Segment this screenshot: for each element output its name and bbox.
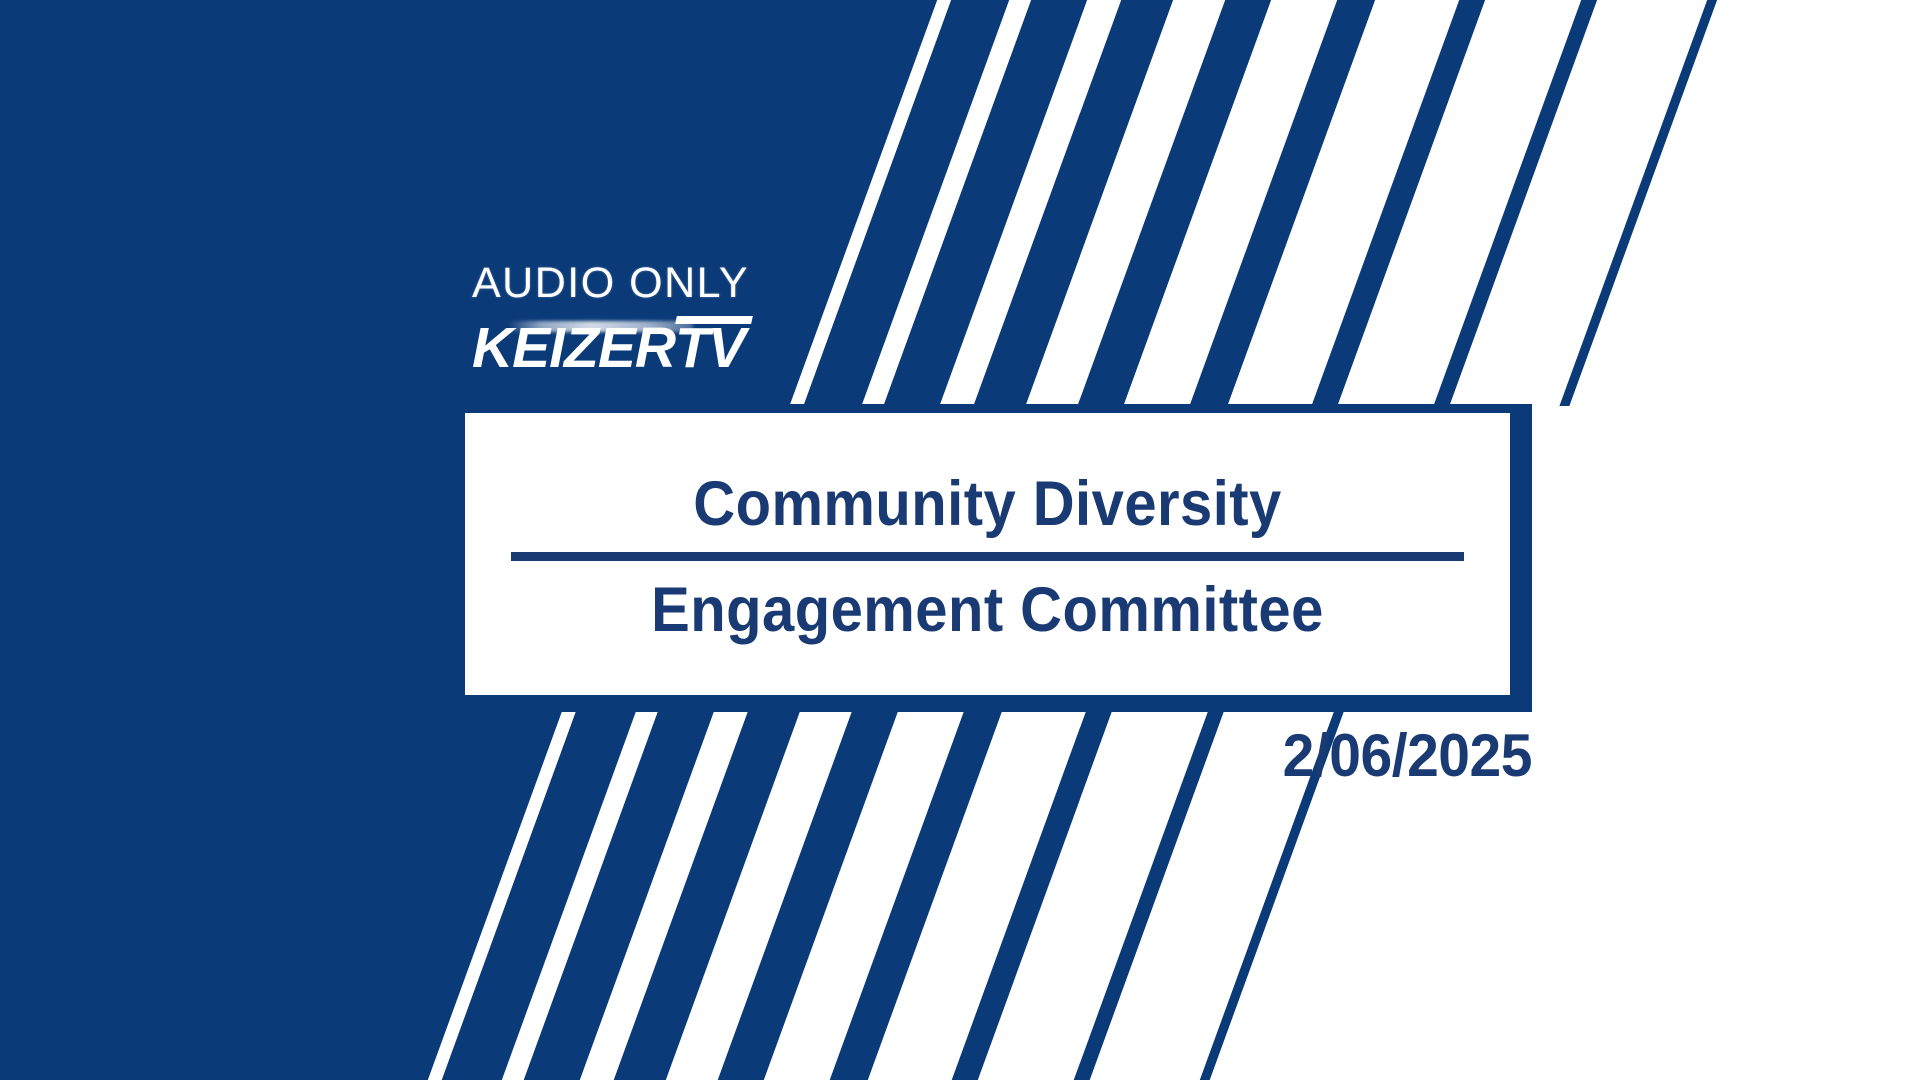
program-title-box: Community Diversity Engagement Committee [456, 404, 1532, 712]
station-branding: AUDIO ONLY KEIZERTV [472, 262, 772, 385]
audio-only-label: AUDIO ONLY [472, 262, 772, 305]
station-logo: KEIZERTV [472, 319, 772, 385]
station-name-suffix: TV [675, 319, 744, 379]
meeting-date: 2/06/2025 [932, 726, 1532, 786]
station-name-primary: KEIZER [472, 316, 675, 380]
station-logo-text: KEIZERTV [472, 319, 744, 379]
program-title-panel: Community Diversity Engagement Committee [465, 413, 1510, 695]
title-divider-rule [511, 552, 1464, 561]
diagonal-stripes-top [0, 0, 1920, 406]
title-card: AUDIO ONLY KEIZERTV Community Diversity … [0, 0, 1920, 1080]
program-title-line-two: Engagement Committee [538, 561, 1437, 643]
program-title-line-one: Community Diversity [538, 471, 1437, 551]
